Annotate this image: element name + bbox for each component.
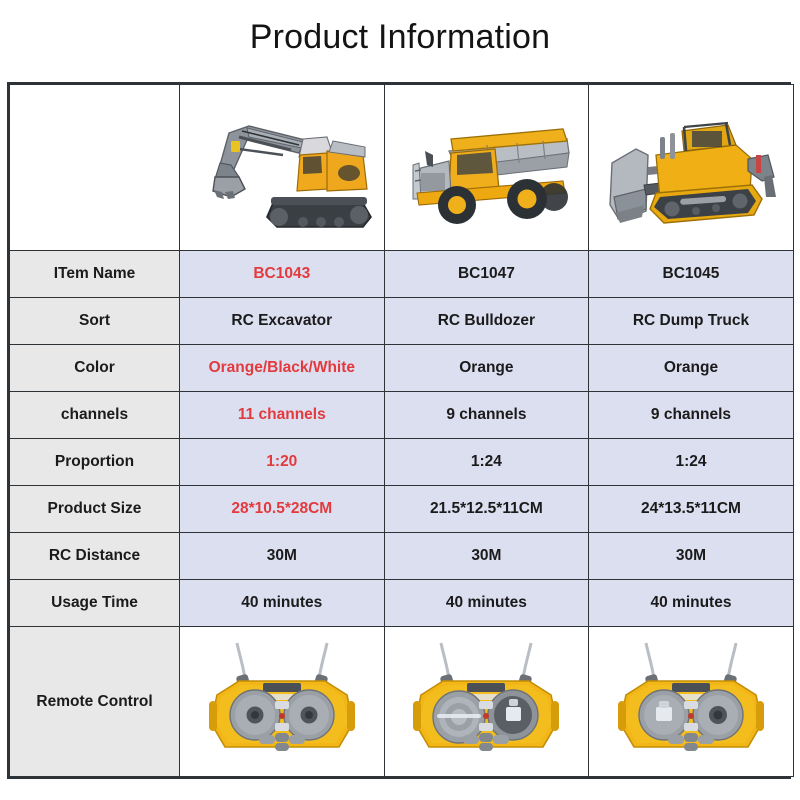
remote-control-row: Remote Control [10, 627, 794, 777]
cell-item-name-3: BC1045 [589, 251, 794, 298]
cell-channels-2: 9 channels [384, 392, 589, 439]
remote-3-wrap [593, 627, 789, 776]
product-image-cell-1 [180, 85, 385, 251]
remote-image-cell-3 [589, 627, 794, 777]
table-row: Color Orange/Black/White Orange Orange [10, 345, 794, 392]
rc-bulldozer-photo [596, 93, 786, 243]
remote-control-dual-joystick [193, 639, 371, 765]
cell-channels-3: 9 channels [589, 392, 794, 439]
cell-sort-2: RC Bulldozer [384, 298, 589, 345]
remote-image-cell-1 [180, 627, 385, 777]
row-label-color: Color [10, 345, 180, 392]
page-title: Product Information [0, 18, 800, 57]
rc-dump-truck-photo [391, 93, 581, 243]
product-information-page: Product Information [0, 0, 800, 800]
product-image-cell-3 [589, 85, 794, 251]
specification-table: ITem Name BC1043 BC1047 BC1045 Sort RC E… [9, 84, 794, 777]
table-row: Product Size 28*10.5*28CM 21.5*12.5*11CM… [10, 486, 794, 533]
table-row: ITem Name BC1043 BC1047 BC1045 [10, 251, 794, 298]
cell-channels-1: 11 channels [180, 392, 385, 439]
row-label-usage-time: Usage Time [10, 580, 180, 627]
product-image-row [10, 85, 794, 251]
remote-control-lever-joystick [602, 639, 780, 765]
cell-sort-1: RC Excavator [180, 298, 385, 345]
cell-proportion-3: 1:24 [589, 439, 794, 486]
rc-excavator-photo [187, 93, 377, 243]
cell-item-name-2: BC1047 [384, 251, 589, 298]
cell-color-1: Orange/Black/White [180, 345, 385, 392]
cell-rc-distance-1: 30M [180, 533, 385, 580]
cell-product-size-2: 21.5*12.5*11CM [384, 486, 589, 533]
cell-color-3: Orange [589, 345, 794, 392]
cell-product-size-3: 24*13.5*11CM [589, 486, 794, 533]
row-label-proportion: Proportion [10, 439, 180, 486]
remote-1-wrap [184, 627, 380, 776]
product-image-cell-2 [384, 85, 589, 251]
cell-product-size-1: 28*10.5*28CM [180, 486, 385, 533]
cell-proportion-2: 1:24 [384, 439, 589, 486]
row-label-channels: channels [10, 392, 180, 439]
cell-item-name-1: BC1043 [180, 251, 385, 298]
row-label-item-name: ITem Name [10, 251, 180, 298]
table-row: channels 11 channels 9 channels 9 channe… [10, 392, 794, 439]
cell-sort-3: RC Dump Truck [589, 298, 794, 345]
remote-image-cell-2 [384, 627, 589, 777]
table-row: Usage Time 40 minutes 40 minutes 40 minu… [10, 580, 794, 627]
remote-2-wrap [389, 627, 585, 776]
row-label-remote-control: Remote Control [10, 627, 180, 777]
cell-proportion-1: 1:20 [180, 439, 385, 486]
row-label-rc-distance: RC Distance [10, 533, 180, 580]
cell-usage-time-1: 40 minutes [180, 580, 385, 627]
table-row: Proportion 1:20 1:24 1:24 [10, 439, 794, 486]
specification-table-container: ITem Name BC1043 BC1047 BC1045 Sort RC E… [7, 82, 791, 779]
remote-control-dial-lever [397, 639, 575, 765]
bulldozer-image-wrap [593, 85, 789, 250]
dump-truck-image-wrap [389, 85, 585, 250]
cell-usage-time-3: 40 minutes [589, 580, 794, 627]
table-row: Sort RC Excavator RC Bulldozer RC Dump T… [10, 298, 794, 345]
cell-color-2: Orange [384, 345, 589, 392]
table-row: RC Distance 30M 30M 30M [10, 533, 794, 580]
cell-usage-time-2: 40 minutes [384, 580, 589, 627]
row-label-sort: Sort [10, 298, 180, 345]
cell-rc-distance-3: 30M [589, 533, 794, 580]
excavator-image-wrap [184, 85, 380, 250]
image-row-label-cell [10, 85, 180, 251]
row-label-product-size: Product Size [10, 486, 180, 533]
cell-rc-distance-2: 30M [384, 533, 589, 580]
